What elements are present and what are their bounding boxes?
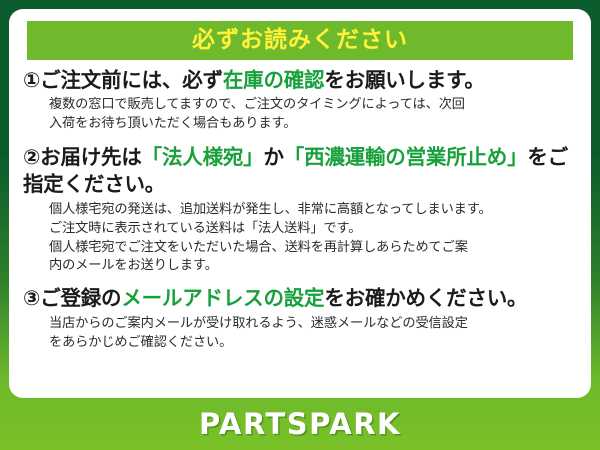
notice-item-1-detail-line-1: 入荷をお待ち頂いただく場合もあります。	[49, 115, 579, 134]
notice-item-2-detail-line-2: 個人様宅宛でご注文をいただいた場合、送料を再計算しあらためてご案	[49, 239, 579, 258]
notice-item-3-heading: ③ご登録のメールアドレスの設定をお確かめください。	[23, 285, 579, 312]
notice-item-3-heading-part-2: をお確かめください。	[324, 286, 527, 310]
notice-item-1-heading-part-2: をお願いします。	[324, 68, 484, 92]
notice-item-2-detail-line-1: ご注文時に表示されている送料は「法人送料」です。	[49, 220, 579, 239]
notice-item-1-heading-part-0: ①ご注文前には、必ず	[23, 68, 223, 92]
notice-item-2-detail-line-0: 個人様宅宛の発送は、追加送料が発生し、非常に高額となってしまいます。	[49, 201, 579, 220]
notice-list: ①ご注文前には、必ず在庫の確認をお願いします。 複数の窓口で販売してますので、ご…	[23, 67, 579, 357]
brand-wordmark: PARTSPARK	[199, 407, 401, 441]
notice-item-3-heading-highlight: メールアドレスの設定	[121, 286, 324, 310]
notice-item-1-heading-highlight: 在庫の確認	[223, 68, 325, 92]
notice-item-1-heading: ①ご注文前には、必ず在庫の確認をお願いします。	[23, 67, 579, 94]
footer-brand-bar: PARTSPARK	[0, 398, 600, 450]
notice-item-3: ③ご登録のメールアドレスの設定をお確かめください。 当店からのご案内メールが受け…	[23, 285, 579, 353]
notice-item-2-heading-part-0: ②お届け先は	[23, 145, 142, 169]
notice-item-2-heading-highlight-2: 「西濃運輸の営業所止め」	[284, 145, 528, 169]
notice-item-3-detail: 当店からのご案内メールが受け取れるよう、迷惑メールなどの受信設定 をあらかじめご…	[49, 315, 579, 352]
notice-item-2: ②お届け先は「法人様宛」か「西濃運輸の営業所止め」をご指定ください。 個人様宅宛…	[23, 144, 579, 276]
notice-item-1-detail-line-0: 複数の窓口で販売してますので、ご注文のタイミングによっては、次回	[49, 96, 579, 115]
notice-item-3-heading-part-0: ③ご登録の	[23, 286, 121, 310]
notice-item-2-heading: ②お届け先は「法人様宛」か「西濃運輸の営業所止め」をご指定ください。	[23, 144, 579, 199]
notice-item-1: ①ご注文前には、必ず在庫の確認をお願いします。 複数の窓口で販売してますので、ご…	[23, 67, 579, 134]
notice-panel: 必ずお読みください ①ご注文前には、必ず在庫の確認をお願いします。 複数の窓口で…	[9, 9, 591, 398]
notice-item-2-detail: 個人様宅宛の発送は、追加送料が発生し、非常に高額となってしまいます。 ご注文時に…	[49, 201, 579, 276]
notice-item-2-detail-line-3: 内のメールをお送りします。	[49, 257, 579, 276]
notice-item-3-detail-line-1: をあらかじめご確認ください。	[49, 334, 579, 353]
notice-item-3-detail-line-0: 当店からのご案内メールが受け取れるよう、迷惑メールなどの受信設定	[49, 315, 579, 334]
notice-item-1-detail: 複数の窓口で販売してますので、ご注文のタイミングによっては、次回 入荷をお待ち頂…	[49, 96, 579, 133]
notice-item-2-heading-part-2: か	[263, 145, 283, 169]
notice-title: 必ずお読みください	[192, 29, 408, 52]
header-banner: 必ずお読みください	[27, 21, 573, 60]
notice-item-2-heading-highlight-1: 「法人様宛」	[142, 145, 264, 169]
notice-card: 必ずお読みください ①ご注文前には、必ず在庫の確認をお願いします。 複数の窓口で…	[0, 0, 600, 450]
